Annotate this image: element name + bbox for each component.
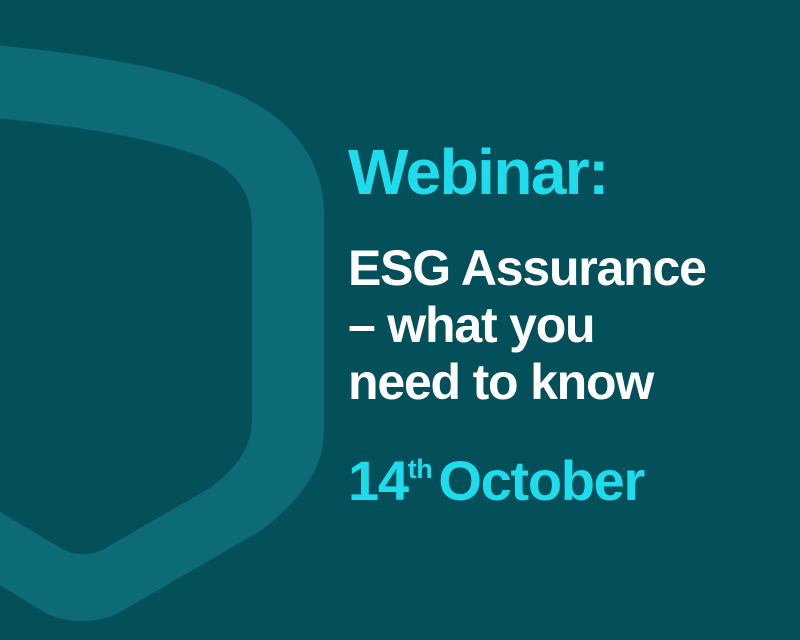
shield-outer-shape [0, 33, 324, 621]
webinar-promo-card: Webinar: ESG Assurance – what you need t… [0, 0, 800, 640]
date-month: October [438, 449, 644, 512]
date-ordinal-suffix: th [408, 454, 433, 484]
headline-line-1: ESG Assurance [348, 240, 706, 297]
shield-inner-cutout [0, 105, 252, 554]
promo-headline: ESG Assurance – what you need to know [348, 240, 706, 411]
headline-line-2: – what you [348, 297, 706, 354]
promo-text-stack: Webinar: ESG Assurance – what you need t… [348, 0, 768, 640]
date-day: 14 [348, 449, 408, 512]
headline-line-3: need to know [348, 354, 706, 411]
promo-date: 14thOctober [348, 452, 644, 520]
promo-kicker: Webinar: [348, 140, 608, 204]
